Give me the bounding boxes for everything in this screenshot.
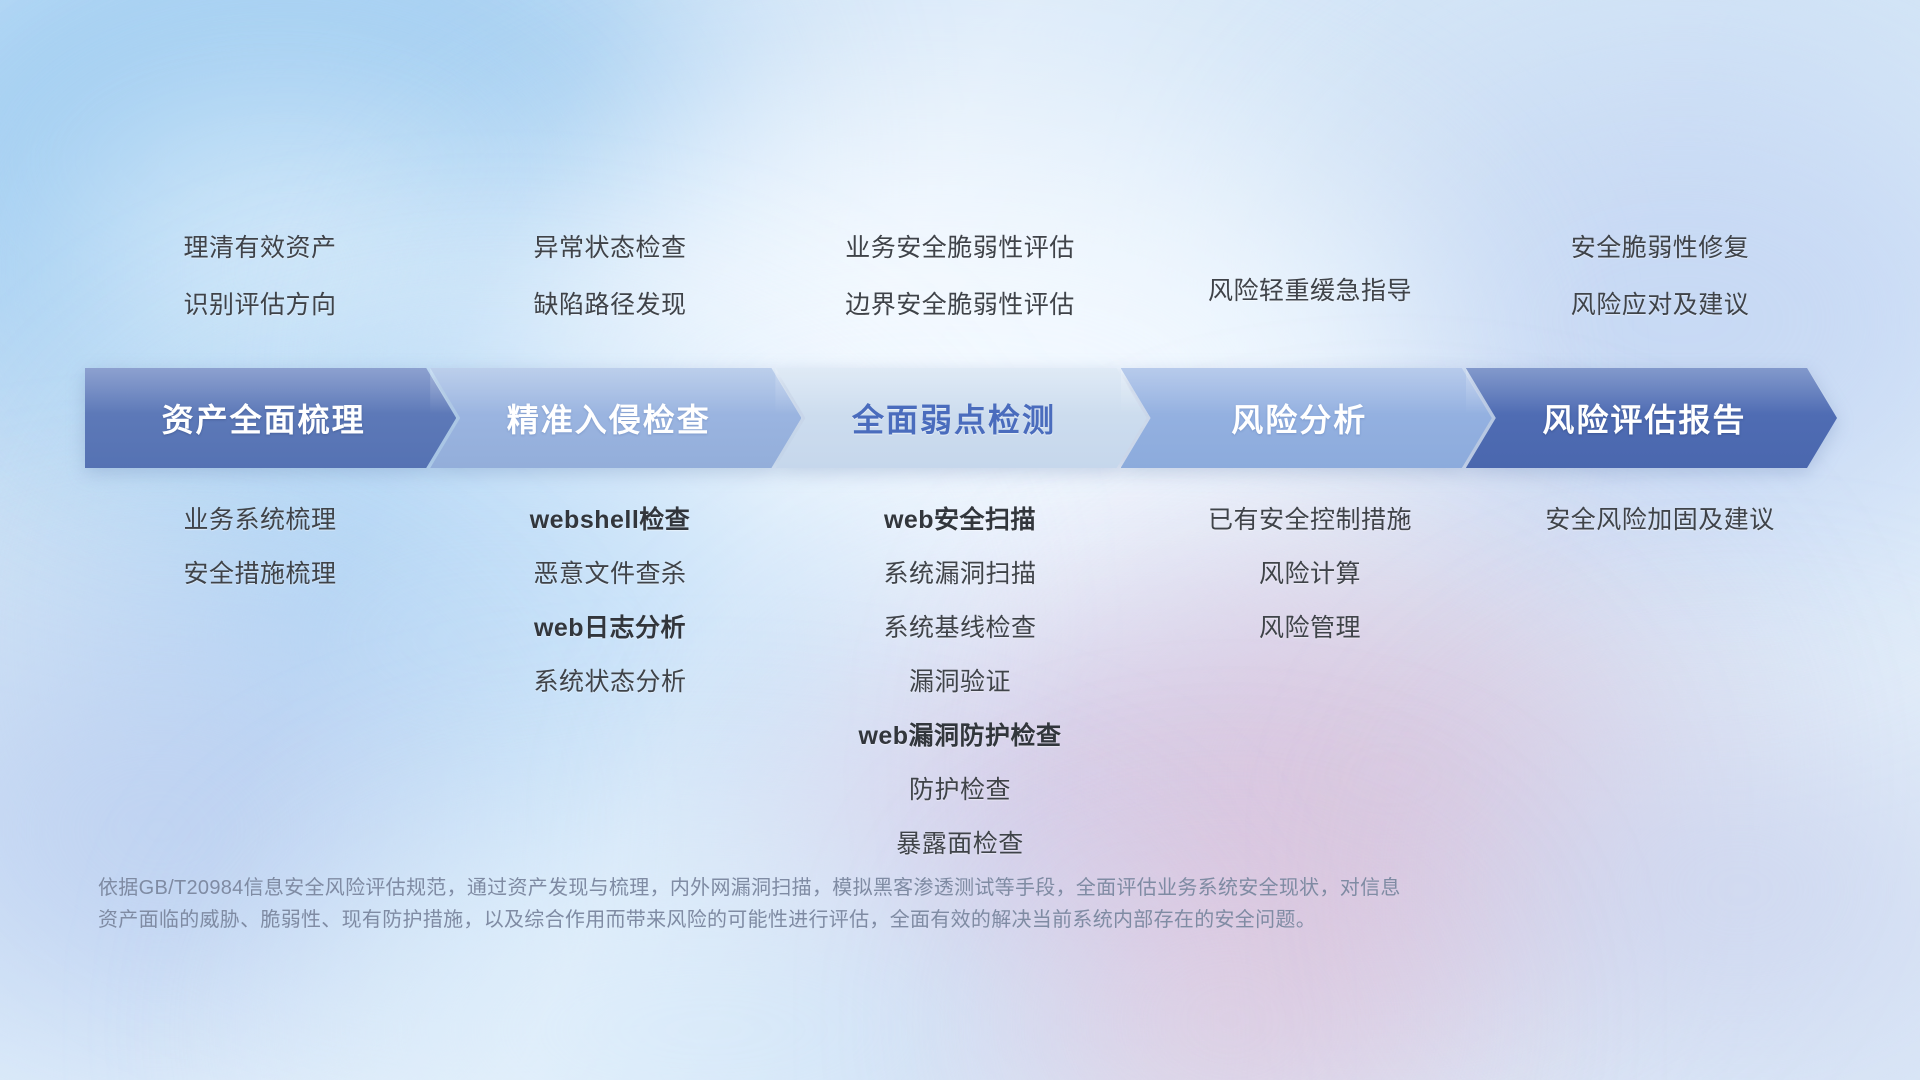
detail-list-item: 系统基线检查 (883, 608, 1036, 644)
detail-list-item: 防护检查 (909, 770, 1011, 806)
bottom-detail-lists: 业务系统梳理安全措施梳理webshell检查恶意文件查杀web日志分析系统状态分… (85, 500, 1835, 860)
detail-list-risk-analysis: 已有安全控制措施风险计算风险管理 (1135, 500, 1485, 860)
detail-list-item: 安全措施梳理 (183, 554, 336, 590)
chevron-stage-intrusion-check[interactable]: 精准入侵检查 (430, 368, 801, 468)
detail-list-assessment-report: 安全风险加固及建议 (1485, 500, 1835, 860)
chevron-stage-weakness-detection[interactable]: 全面弱点检测 (775, 368, 1146, 468)
chevron-label: 风险分析 (1231, 395, 1367, 441)
top-note-line: 边界安全脆弱性评估 (845, 285, 1075, 321)
chevron-stage-risk-analysis[interactable]: 风险分析 (1121, 368, 1492, 468)
footer-description: 依据GB/T20984信息安全风险评估规范，通过资产发现与梳理，内外网漏洞扫描，… (98, 872, 1628, 937)
detail-list-item: web漏洞防护检查 (858, 716, 1061, 752)
detail-list-item: 恶意文件查杀 (533, 554, 686, 590)
detail-list-item: 漏洞验证 (909, 662, 1011, 698)
detail-list-item: web安全扫描 (884, 500, 1036, 536)
detail-list-item: 系统漏洞扫描 (883, 554, 1036, 590)
top-note-line: 理清有效资产 (183, 228, 336, 264)
detail-list-item: 系统状态分析 (533, 662, 686, 698)
top-note-line: 风险应对及建议 (1571, 285, 1750, 321)
top-notes-assessment-report: 安全脆弱性修复风险应对及建议 (1485, 228, 1835, 321)
top-note-line: 安全脆弱性修复 (1571, 228, 1750, 264)
detail-list-intrusion-check: webshell检查恶意文件查杀web日志分析系统状态分析 (435, 500, 785, 860)
detail-list-item: 风险管理 (1259, 608, 1361, 644)
top-notes-intrusion-check: 异常状态检查缺陷路径发现 (435, 228, 785, 321)
top-note-line: 识别评估方向 (183, 285, 336, 321)
chevron-label: 精准入侵检查 (507, 395, 711, 441)
detail-list-item: 风险计算 (1259, 554, 1361, 590)
detail-list-item: 暴露面检查 (896, 824, 1024, 860)
chevron-label: 风险评估报告 (1542, 395, 1746, 441)
detail-list-asset-inventory: 业务系统梳理安全措施梳理 (85, 500, 435, 860)
top-note-line: 风险轻重缓急指导 (1208, 271, 1412, 307)
top-notes-weakness-detection: 业务安全脆弱性评估边界安全脆弱性评估 (785, 228, 1135, 321)
top-note-line: 缺陷路径发现 (533, 285, 686, 321)
chevron-stage-asset-inventory[interactable]: 资产全面梳理 (85, 368, 456, 468)
detail-list-item: 已有安全控制措施 (1208, 500, 1412, 536)
top-note-line: 异常状态检查 (533, 228, 686, 264)
detail-list-item: webshell检查 (530, 500, 691, 536)
footer-line-2: 资产面临的威胁、脆弱性、现有防护措施，以及综合作用而带来风险的可能性进行评估，全… (98, 904, 1628, 936)
process-chevron-bar: 资产全面梳理精准入侵检查全面弱点检测风险分析风险评估报告 (85, 368, 1837, 468)
chevron-stage-assessment-report[interactable]: 风险评估报告 (1466, 368, 1837, 468)
chevron-label: 全面弱点检测 (852, 395, 1056, 441)
top-note-line: 业务安全脆弱性评估 (845, 228, 1075, 264)
top-notes-asset-inventory: 理清有效资产识别评估方向 (85, 228, 435, 321)
chevron-label: 资产全面梳理 (162, 395, 366, 441)
detail-list-item: web日志分析 (534, 608, 686, 644)
detail-list-weakness-detection: web安全扫描系统漏洞扫描系统基线检查漏洞验证web漏洞防护检查防护检查暴露面检… (785, 500, 1135, 860)
top-notes-risk-analysis: 风险轻重缓急指导 (1135, 228, 1485, 321)
footer-line-1: 依据GB/T20984信息安全风险评估规范，通过资产发现与梳理，内外网漏洞扫描，… (98, 872, 1628, 904)
top-notes-row: 理清有效资产识别评估方向异常状态检查缺陷路径发现业务安全脆弱性评估边界安全脆弱性… (85, 228, 1835, 321)
detail-list-item: 安全风险加固及建议 (1545, 500, 1775, 536)
detail-list-item: 业务系统梳理 (183, 500, 336, 536)
